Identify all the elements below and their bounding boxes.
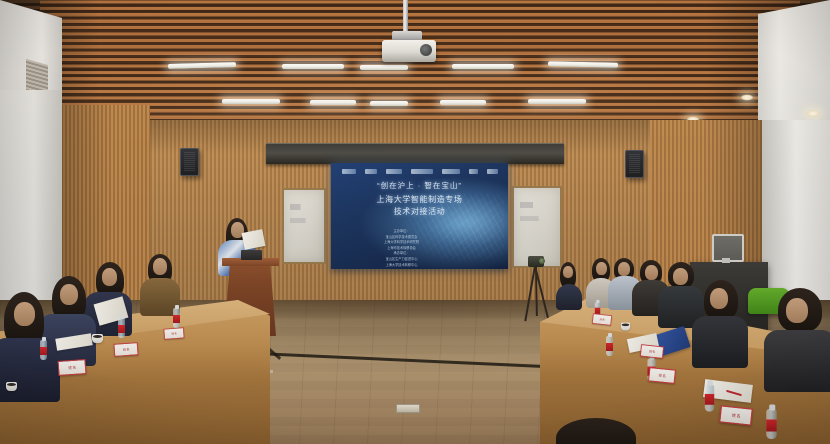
water-bottle: [40, 340, 47, 360]
attendee-body: [0, 338, 60, 402]
projector-lens-icon: [420, 44, 432, 56]
water-bottle: [606, 336, 613, 356]
name-placard-text: 姓名: [599, 317, 605, 321]
ceiling-light-tube: [282, 64, 344, 69]
tea-cup: [92, 334, 103, 343]
water-bottle: [173, 308, 180, 328]
name-placard-text: 姓名: [648, 349, 655, 354]
ceiling-light-tube: [310, 100, 356, 105]
attendee-body: [764, 330, 830, 392]
recessed-downlight: [806, 110, 820, 117]
sponsor-logo: [365, 169, 377, 174]
name-placard-text: 姓名: [171, 331, 177, 335]
attendee-head: [14, 302, 35, 326]
sponsor-logo: [411, 169, 433, 174]
name-placard-text: 姓名: [122, 347, 129, 352]
attendee-head: [786, 298, 808, 323]
projector-mount-pole: [403, 0, 408, 35]
whiteboard-writing: [290, 196, 318, 256]
attendee-head: [673, 268, 688, 285]
attendee-head: [60, 284, 78, 305]
floor-power-outlet: [396, 404, 420, 413]
attendee-head: [645, 265, 658, 280]
name-placard: 姓名: [719, 405, 753, 426]
sponsor-logo-bar: [331, 166, 508, 177]
attendee-head: [618, 262, 630, 276]
water-bottle: [766, 409, 777, 439]
whiteboard-writing: [520, 194, 554, 260]
attendee-body: [692, 316, 748, 368]
slide-title-line1: “创在沪上 · 智在宝山”: [331, 181, 508, 192]
video-camera: [528, 256, 544, 267]
wall-speaker-left: [180, 148, 199, 176]
attendee-head: [563, 266, 573, 278]
monitor-stand: [722, 258, 730, 263]
water-bottle: [705, 385, 714, 412]
ceiling-light-tube: [452, 64, 514, 69]
sponsor-logo: [442, 169, 460, 174]
name-placard: 姓名: [648, 367, 676, 384]
attendee-head: [710, 288, 728, 309]
ceiling-light-tube: [528, 99, 586, 104]
name-placard: 姓名: [114, 342, 139, 357]
name-placard: 姓名: [592, 313, 612, 325]
conference-room-photo: “创在沪上 · 智在宝山” 上海大学智能制造专场 技术对接活动 主办单位： 宝山…: [0, 0, 830, 444]
slide-title-line3: 技术对接活动: [331, 206, 508, 218]
name-placard: 姓名: [164, 327, 185, 339]
tea-cup: [621, 323, 630, 331]
recessed-downlight: [740, 94, 754, 101]
attendee-head: [153, 258, 167, 275]
sponsor-logo: [342, 169, 356, 174]
attendee-head: [102, 268, 117, 286]
ceiling-light-tube: [370, 101, 408, 106]
sponsor-logo: [386, 169, 402, 174]
name-placard-text: 姓名: [68, 365, 76, 371]
ceiling-light-tube: [440, 100, 486, 105]
screen-valance-housing: [266, 143, 564, 164]
slide-title: “创在沪上 · 智在宝山” 上海大学智能制造专场 技术对接活动: [331, 181, 508, 218]
name-placard: 姓名: [58, 359, 87, 376]
water-bottle: [118, 318, 125, 338]
slide-organizer-list: 主办单位： 宝山区科学技术委员会 上海大学科学技术研究院 上海市技术转移协会 承…: [349, 229, 454, 268]
attendee-head: [596, 262, 607, 275]
sponsor-logo: [487, 169, 498, 174]
podium-laptop: [241, 250, 262, 260]
projection-screen: “创在沪上 · 智在宝山” 上海大学智能制造专场 技术对接活动 主办单位： 宝山…: [331, 163, 508, 269]
slide-title-line2: 上海大学智能制造专场: [331, 194, 508, 206]
wall-speaker-right: [625, 150, 644, 178]
ceiling-light-tube: [222, 99, 280, 104]
tea-cup: [6, 382, 17, 391]
whiteboard-left: [282, 188, 326, 264]
sponsor-logo: [469, 169, 478, 174]
name-placard: 姓名: [640, 344, 664, 359]
attendee-body: [556, 284, 582, 310]
name-placard-text: 姓名: [658, 373, 666, 379]
name-placard-text: 姓名: [731, 412, 741, 419]
ceiling-light-tube: [360, 65, 408, 70]
slide-sub-line: 上海大学技术转移中心: [349, 263, 454, 269]
